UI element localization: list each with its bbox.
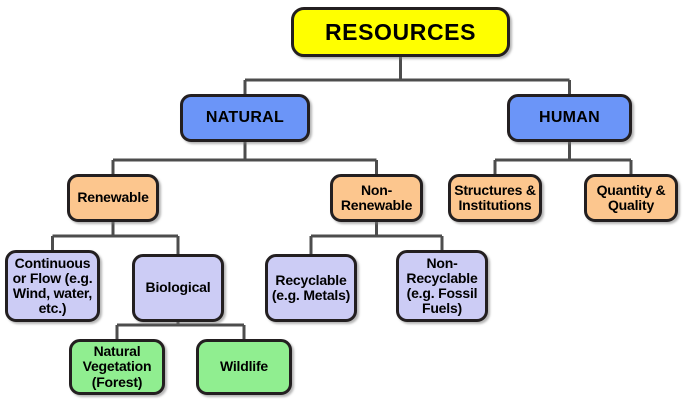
- node-renewable: Renewable: [67, 174, 159, 222]
- node-biological: Biological: [132, 254, 224, 322]
- node-non-recyclable: Non- Recyclable (e.g. Fossil Fuels): [396, 250, 488, 322]
- resource-classification-diagram: RESOURCESNATURALHUMANRenewableNon- Renew…: [0, 0, 684, 402]
- node-resources: RESOURCES: [291, 7, 510, 57]
- node-natural: NATURAL: [180, 94, 310, 142]
- node-wildlife: Wildlife: [196, 339, 292, 395]
- node-structures-institutions: Structures & Institutions: [448, 174, 542, 222]
- node-non-renewable: Non- Renewable: [330, 174, 423, 222]
- node-quantity-quality: Quantity & Quality: [584, 174, 678, 222]
- node-natural-vegetation: Natural Vegetation (Forest): [69, 339, 165, 395]
- node-continuous-flow: Continuous or Flow (e.g. Wind, water, et…: [5, 250, 100, 322]
- node-recyclable: Recyclable (e.g. Metals): [265, 254, 357, 322]
- node-human: HUMAN: [507, 94, 632, 142]
